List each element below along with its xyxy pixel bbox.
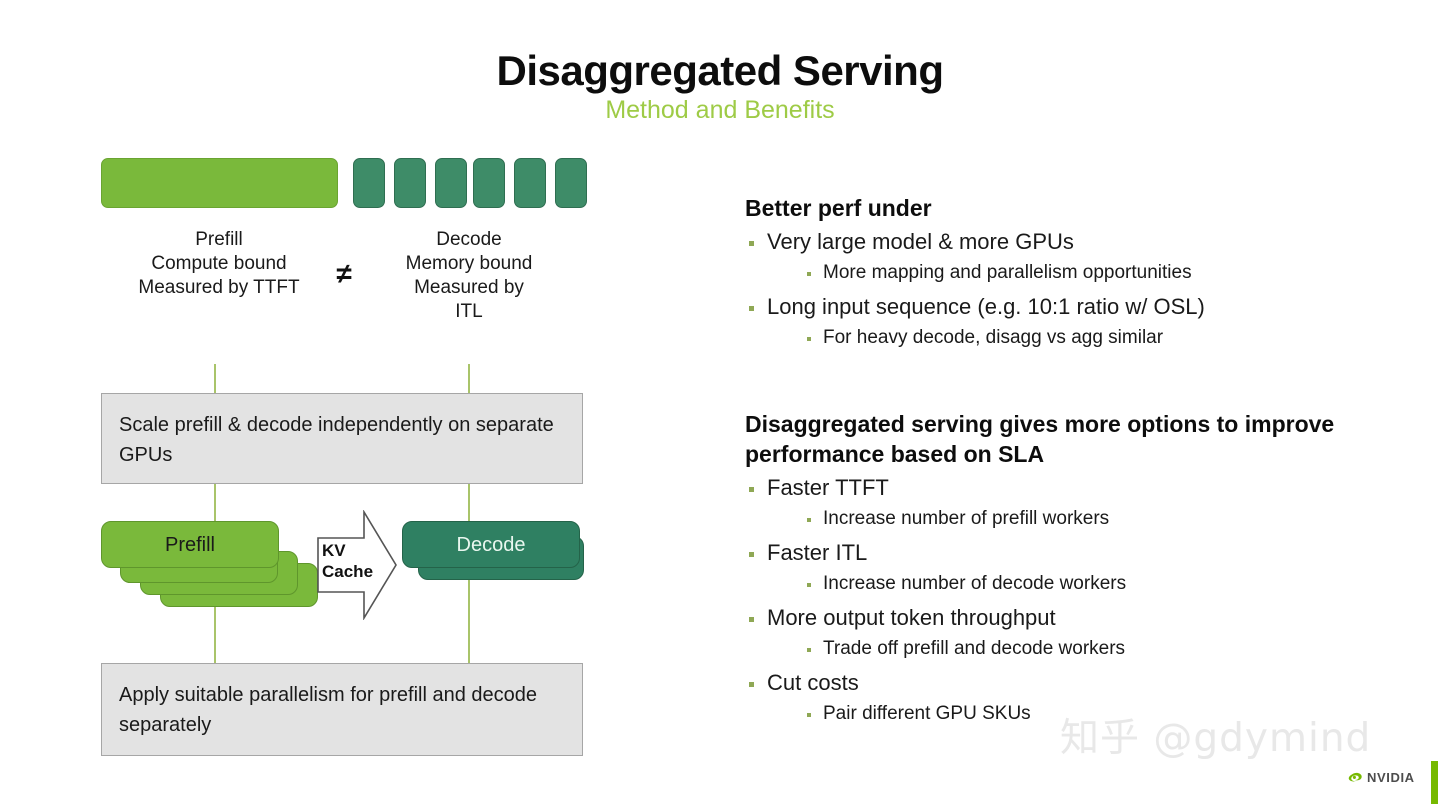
sub-list: Increase number of decode workers xyxy=(767,569,1405,599)
sla-list: Faster TTFT Increase number of prefill w… xyxy=(745,472,1405,729)
sub-list: Increase number of prefill workers xyxy=(767,504,1405,534)
sub-list-item-label: Increase number of prefill workers xyxy=(823,508,1109,529)
section-sla-options: Disaggregated serving gives more options… xyxy=(745,409,1405,729)
callout-apply-parallelism: Apply suitable parallelism for prefill a… xyxy=(101,663,583,756)
decode-caption-line-4: ITL xyxy=(378,300,560,324)
sub-list-item-label: For heavy decode, disagg vs agg similar xyxy=(823,327,1163,348)
connector-line-prefill-top xyxy=(214,364,216,394)
list-item: Faster ITL Increase number of decode wor… xyxy=(745,537,1405,599)
bullet-icon xyxy=(807,272,811,276)
sub-list: Trade off prefill and decode workers xyxy=(767,634,1405,664)
list-item-label: Faster TTFT xyxy=(767,475,889,500)
list-item: Faster TTFT Increase number of prefill w… xyxy=(745,472,1405,534)
better-perf-heading: Better perf under xyxy=(745,193,1405,223)
sub-list: More mapping and parallelism opportuniti… xyxy=(767,258,1405,288)
decode-token-block-3 xyxy=(435,158,467,208)
bullet-icon xyxy=(749,682,754,687)
kv-cache-label: KV Cache xyxy=(322,540,380,582)
list-item-label: Faster ITL xyxy=(767,540,867,565)
list-item: Increase number of prefill workers xyxy=(767,504,1405,534)
prefill-caption-line-2: Compute bound xyxy=(110,252,328,276)
bullet-icon xyxy=(749,306,754,311)
kv-cache-label-line-1: KV xyxy=(322,540,380,561)
sub-list-item-label: Increase number of decode workers xyxy=(823,573,1126,594)
callout-scale-independently: Scale prefill & decode independently on … xyxy=(101,393,583,484)
sub-list-item-label: Trade off prefill and decode workers xyxy=(823,638,1125,659)
list-item-label: More output token throughput xyxy=(767,605,1056,630)
bullet-icon xyxy=(749,241,754,246)
list-item-label: Long input sequence (e.g. 10:1 ratio w/ … xyxy=(767,294,1205,319)
nvidia-eye-icon xyxy=(1346,771,1363,784)
bullet-icon xyxy=(807,583,811,587)
bullet-icon xyxy=(807,337,811,341)
decode-caption: Decode Memory bound Measured by ITL xyxy=(378,228,560,324)
bullet-icon xyxy=(807,518,811,522)
decode-card-front: Decode xyxy=(402,521,580,568)
sub-list: For heavy decode, disagg vs agg similar xyxy=(767,323,1405,353)
bullet-icon xyxy=(749,487,754,492)
better-perf-list: Very large model & more GPUs More mappin… xyxy=(745,226,1405,353)
page-title: Disaggregated Serving xyxy=(0,47,1440,95)
bullet-icon xyxy=(749,552,754,557)
page-subtitle: Method and Benefits xyxy=(0,96,1440,125)
section-better-perf: Better perf under Very large model & mor… xyxy=(745,193,1405,353)
list-item: Long input sequence (e.g. 10:1 ratio w/ … xyxy=(745,291,1405,353)
prefill-phase-bar xyxy=(101,158,338,208)
connector-line-decode-top xyxy=(468,364,470,394)
sub-list-item-label: Pair different GPU SKUs xyxy=(823,703,1031,724)
not-equal-icon: ≠ xyxy=(322,258,366,290)
bullet-icon xyxy=(807,648,811,652)
slide-canvas: Disaggregated Serving Method and Benefit… xyxy=(0,0,1440,804)
decode-token-block-2 xyxy=(394,158,426,208)
list-item: Very large model & more GPUs More mappin… xyxy=(745,226,1405,288)
bullet-icon xyxy=(807,713,811,717)
prefill-caption: Prefill Compute bound Measured by TTFT xyxy=(110,228,328,300)
brand-accent-bar xyxy=(1431,761,1438,804)
list-item-label: Cut costs xyxy=(767,670,859,695)
bullet-icon xyxy=(749,617,754,622)
nvidia-logo: NVIDIA xyxy=(1346,770,1415,785)
decode-token-block-4 xyxy=(473,158,505,208)
prefill-caption-line-3: Measured by TTFT xyxy=(110,276,328,300)
nvidia-wordmark: NVIDIA xyxy=(1367,770,1415,785)
list-item: Trade off prefill and decode workers xyxy=(767,634,1405,664)
prefill-card-label: Prefill xyxy=(102,534,278,557)
decode-token-block-1 xyxy=(353,158,385,208)
list-item-label: Very large model & more GPUs xyxy=(767,229,1074,254)
decode-caption-line-3: Measured by xyxy=(378,276,560,300)
list-item: More output token throughput Trade off p… xyxy=(745,602,1405,664)
decode-card-label: Decode xyxy=(403,534,579,557)
list-item: More mapping and parallelism opportuniti… xyxy=(767,258,1405,288)
kv-cache-label-line-2: Cache xyxy=(322,561,380,582)
list-item: For heavy decode, disagg vs agg similar xyxy=(767,323,1405,353)
list-item: Increase number of decode workers xyxy=(767,569,1405,599)
decode-token-block-6 xyxy=(555,158,587,208)
watermark: 知乎 @gdymind xyxy=(1060,707,1371,763)
prefill-caption-line-1: Prefill xyxy=(110,228,328,252)
sub-list-item-label: More mapping and parallelism opportuniti… xyxy=(823,262,1192,283)
decode-token-block-5 xyxy=(514,158,546,208)
prefill-card-front: Prefill xyxy=(101,521,279,568)
sla-heading: Disaggregated serving gives more options… xyxy=(745,409,1405,469)
decode-caption-line-1: Decode xyxy=(378,228,560,252)
decode-caption-line-2: Memory bound xyxy=(378,252,560,276)
